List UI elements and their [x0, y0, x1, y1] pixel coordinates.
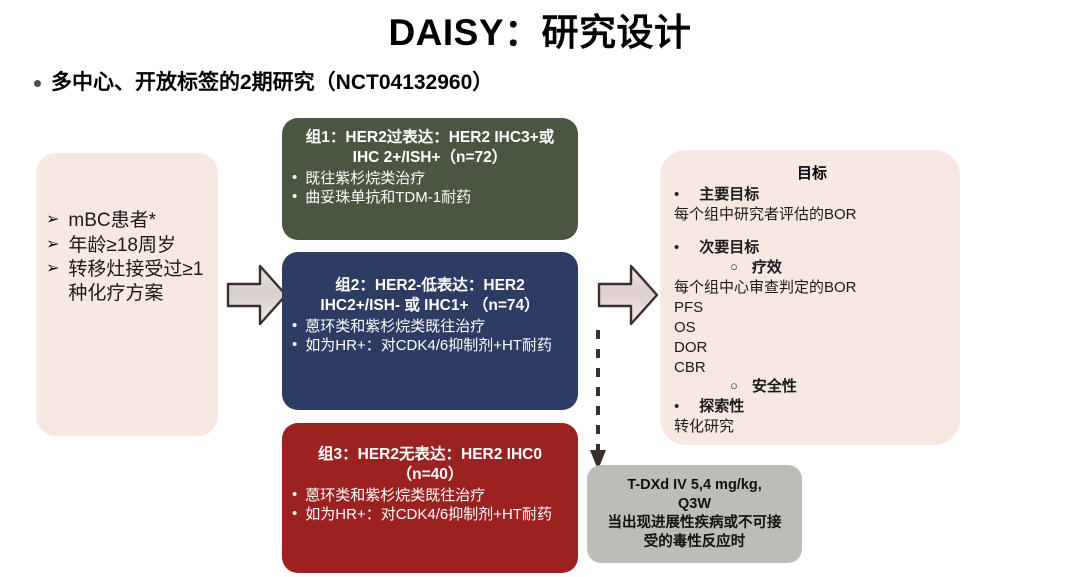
efficacy-endpoint: 每个组中心审查判定的BOR: [674, 278, 950, 298]
eligibility-panel: ➢ mBC患者* ➢ 年龄≥18周岁 ➢ 转移灶接受过≥1种化疗方案: [36, 153, 218, 436]
cohort-3-bullet-label: 蒽环类和紫杉烷类既往治疗: [305, 487, 568, 505]
list-item: • 如为HR+：对CDK4/6抑制剂+HT耐药: [292, 506, 568, 524]
cohort-1-box: 组1：HER2过表达：HER2 IHC3+或 IHC 2+/ISH+（n=72）…: [282, 118, 578, 240]
dashed-arrow-down-icon: [578, 330, 618, 472]
slide-canvas: DAISY：研究设计 多中心、开放标签的2期研究（NCT04132960） ➢ …: [0, 0, 1080, 577]
cohort-1-bullet-label: 曲妥珠单抗和TDM-1耐药: [305, 189, 568, 207]
list-item: • 蒽环类和紫杉烷类既往治疗: [292, 487, 568, 505]
eligibility-item-label: 年龄≥18周岁: [68, 234, 210, 258]
circle-bullet-icon: ○: [730, 258, 738, 275]
dot-bullet-icon: •: [292, 487, 297, 504]
list-item: ➢ 年龄≥18周岁: [46, 234, 210, 258]
cohort-2-bullet-list: • 蒽环类和紫杉烷类既往治疗 • 如为HR+：对CDK4/6抑制剂+HT耐药: [290, 318, 570, 356]
list-item: ➢ mBC患者*: [46, 209, 210, 233]
subtitle-text: 多中心、开放标签的2期研究（NCT04132960）: [51, 66, 493, 96]
eligibility-list: ➢ mBC患者* ➢ 年龄≥18周岁 ➢ 转移灶接受过≥1种化疗方案: [46, 209, 210, 305]
eligibility-item-label: 转移灶接受过≥1种化疗方案: [68, 258, 210, 305]
arrow-bullet-icon: ➢: [46, 258, 59, 280]
secondary-objective-label: 次要目标: [699, 238, 759, 258]
cohort-2-bullet-label: 如为HR+：对CDK4/6抑制剂+HT耐药: [305, 337, 568, 355]
list-item: • 蒽环类和紫杉烷类既往治疗: [292, 318, 568, 336]
objectives-title: 目标: [674, 162, 950, 183]
cohort-1-bullet-list: • 既往紫杉烷类治疗 • 曲妥珠单抗和TDM-1耐药: [290, 170, 570, 208]
exploratory-row: • 探索性: [674, 397, 950, 417]
cohort-1-bullet-label: 既往紫杉烷类治疗: [305, 170, 568, 188]
dot-bullet-icon: •: [292, 189, 297, 206]
treatment-line-1: T-DXd IV 5,4 mg/kg,: [627, 477, 762, 493]
secondary-objective-row: • 次要目标: [674, 238, 950, 258]
exploratory-text: 转化研究: [674, 417, 950, 437]
dot-bullet-icon: •: [292, 318, 297, 335]
eligibility-item-label: mBC患者*: [68, 209, 210, 233]
safety-row: ○ 安全性: [730, 377, 950, 397]
cohort-2-box: 组2：HER2-低表达：HER2 IHC2+/ISH- 或 IHC1+ （n=7…: [282, 252, 578, 410]
block-arrow-right-icon: [226, 258, 288, 332]
primary-objective-row: • 主要目标: [674, 185, 950, 205]
treatment-line-3: 当出现进展性疾病或不可接: [608, 515, 782, 531]
cohort-3-bullet-list: • 蒽环类和紫杉烷类既往治疗 • 如为HR+：对CDK4/6抑制剂+HT耐药: [290, 487, 570, 525]
primary-objective-text: 每个组中研究者评估的BOR: [674, 205, 950, 225]
subtitle-row: 多中心、开放标签的2期研究（NCT04132960）: [34, 66, 493, 96]
efficacy-endpoint: CBR: [674, 358, 950, 378]
efficacy-label: 疗效: [752, 258, 782, 278]
round-bullet-icon: [34, 80, 41, 87]
cohort-3-bullet-label: 如为HR+：对CDK4/6抑制剂+HT耐药: [305, 506, 568, 524]
safety-label: 安全性: [752, 377, 797, 397]
efficacy-row: ○ 疗效: [730, 258, 950, 278]
efficacy-endpoint: PFS: [674, 298, 950, 318]
cohort-2-bullet-label: 蒽环类和紫杉烷类既往治疗: [305, 318, 568, 336]
block-arrow-right-icon: [597, 258, 659, 332]
objectives-content: • 主要目标 每个组中研究者评估的BOR • 次要目标 ○ 疗效 每个组中心审查…: [674, 185, 950, 437]
dot-bullet-icon: •: [292, 506, 297, 523]
list-item: • 既往紫杉烷类治疗: [292, 170, 568, 188]
arrow-bullet-icon: ➢: [46, 234, 59, 256]
cohort-2-heading: 组2：HER2-低表达：HER2 IHC2+/ISH- 或 IHC1+ （n=7…: [294, 276, 566, 315]
list-item: • 曲妥珠单抗和TDM-1耐药: [292, 189, 568, 207]
efficacy-endpoint: OS: [674, 318, 950, 338]
circle-bullet-icon: ○: [730, 377, 738, 394]
list-item: • 如为HR+：对CDK4/6抑制剂+HT耐药: [292, 337, 568, 355]
efficacy-endpoint: DOR: [674, 338, 950, 358]
dot-bullet-icon: •: [674, 238, 679, 258]
exploratory-label: 探索性: [699, 397, 744, 417]
list-item: ➢ 转移灶接受过≥1种化疗方案: [46, 258, 210, 305]
cohort-1-heading: 组1：HER2过表达：HER2 IHC3+或 IHC 2+/ISH+（n=72）: [294, 128, 566, 167]
objectives-panel: 目标 • 主要目标 每个组中研究者评估的BOR • 次要目标 ○ 疗效 每个组中…: [660, 150, 960, 445]
cohort-3-box: 组3：HER2无表达：HER2 IHC0 （n=40） • 蒽环类和紫杉烷类既往…: [282, 423, 578, 573]
treatment-text: T-DXd IV 5,4 mg/kg, Q3W 当出现进展性疾病或不可接 受的毒…: [608, 476, 782, 551]
arrow-bullet-icon: ➢: [46, 209, 59, 231]
spacer: [674, 225, 950, 238]
dot-bullet-icon: •: [674, 185, 679, 205]
treatment-box: T-DXd IV 5,4 mg/kg, Q3W 当出现进展性疾病或不可接 受的毒…: [587, 465, 802, 563]
dot-bullet-icon: •: [292, 337, 297, 354]
dot-bullet-icon: •: [292, 170, 297, 187]
page-title: DAISY：研究设计: [0, 2, 1080, 56]
cohort-3-heading: 组3：HER2无表达：HER2 IHC0 （n=40）: [294, 445, 566, 484]
primary-objective-label: 主要目标: [699, 185, 759, 205]
dot-bullet-icon: •: [674, 397, 679, 417]
treatment-line-2: Q3W: [678, 496, 711, 512]
treatment-line-4: 受的毒性反应时: [644, 534, 746, 550]
